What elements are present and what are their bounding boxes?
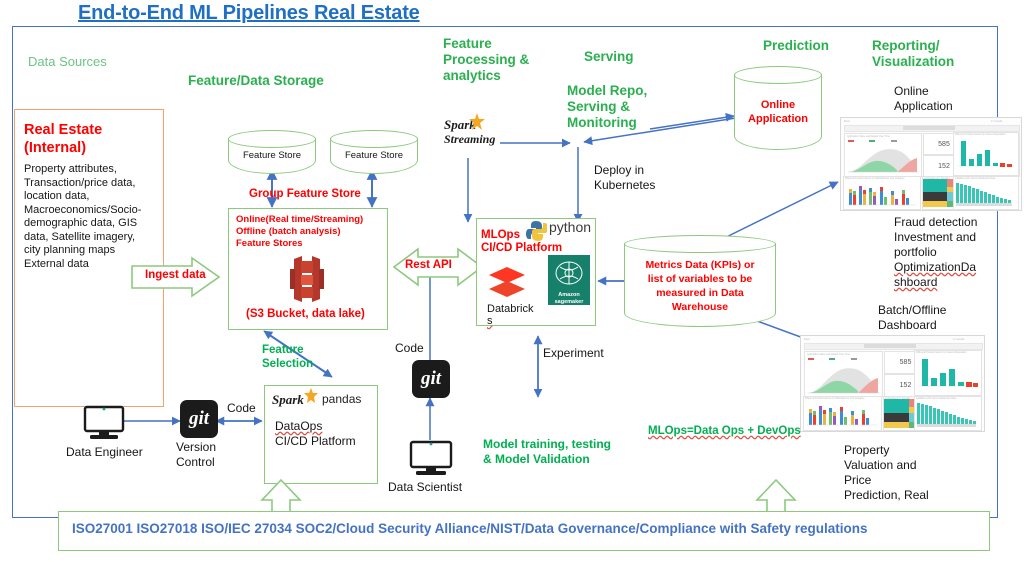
section-label-feature-processing: Feature Processing & analytics xyxy=(443,36,553,84)
dataops-text: DataOps CI/CD Platform xyxy=(275,419,375,449)
section-label-reporting: Reporting/ Visualization xyxy=(872,38,992,70)
page-title: End-to-End ML Pipelines Real Estate xyxy=(78,2,498,25)
kpi2-card-4: 164 xyxy=(928,374,971,397)
metrics-warehouse-text: Metrics Data (KPIs) or list of variables… xyxy=(645,258,754,314)
data-scientist-label: Data Scientist xyxy=(388,480,462,495)
diagram-canvas: End-to-End ML Pipelines Real Estate xyxy=(0,0,1024,562)
spark-star-icon-dataops xyxy=(303,388,319,404)
feature-processing-line2: Processing & xyxy=(443,52,553,68)
metrics-warehouse-cylinder: Metrics Data (KPIs) or list of variables… xyxy=(624,235,776,327)
kpi2-card-2: 277 xyxy=(928,351,971,374)
group-feature-store-label: Group Feature Store xyxy=(249,188,361,201)
feature-processing-line1: Feature xyxy=(443,36,553,52)
code-label-mid: Code xyxy=(395,341,424,356)
rest-api-label: Rest API xyxy=(405,259,452,272)
compliance-banner-text: ISO27001 ISO27018 ISO/IEC 27034 SOC2/Clo… xyxy=(72,521,982,536)
source-heading-line2: (Internal) xyxy=(24,139,156,157)
section-label-prediction: Prediction xyxy=(763,38,829,54)
reporting-online-app-label: Online Application xyxy=(894,84,994,114)
sagemaker-label: Amazon sagemaker xyxy=(548,292,590,305)
aws-s3-icon xyxy=(282,255,332,303)
pandas-label: pandas xyxy=(322,393,361,407)
dashboard1-caption: Fraud detection Investment and portfolio… xyxy=(894,215,1004,290)
feature-processing-line3: analytics xyxy=(443,68,553,84)
version-control-label: Version Control xyxy=(176,440,246,470)
feature-store-right-label: Feature Store xyxy=(345,149,403,163)
online-application-cylinder: Online Application xyxy=(734,66,822,150)
data-engineer-label: Data Engineer xyxy=(66,445,143,460)
model-training-note: Model training, testing & Model Validati… xyxy=(483,437,653,467)
online-application-text: Online Application xyxy=(748,98,808,126)
batch-offline-label: Batch/Offline Dashboard xyxy=(878,303,988,333)
kpi2-value-2: 277 xyxy=(944,359,956,366)
storage-line2: Offline (batch analysis) xyxy=(236,226,388,238)
dashboard-online-charts xyxy=(840,117,1020,209)
git-icon-middle: git xyxy=(412,360,450,398)
reporting-line2: Visualization xyxy=(872,54,992,70)
dashboard-thumbnail-batch[interactable]: filters 17 records Application Value and… xyxy=(800,335,985,432)
code-label-left: Code xyxy=(227,401,256,416)
storage-box-text: Online(Real time/Streaming) Offline (bat… xyxy=(236,214,388,250)
git-icon-version-control: git xyxy=(180,400,218,438)
mlops-equation-note: MLOps=Data Ops + DevOps xyxy=(648,424,801,438)
source-heading-line1: Real Estate xyxy=(24,121,156,139)
feature-store-cylinder-left: Feature Store xyxy=(228,130,316,174)
data-engineer-monitor-icon xyxy=(82,405,126,441)
amazon-sagemaker-icon xyxy=(548,255,590,297)
feature-store-cylinder-right: Feature Store xyxy=(330,130,418,174)
kpi2-value-1: 585 xyxy=(900,359,912,366)
streaming-word: Streaming xyxy=(444,132,506,146)
mlops-title: MLOps CI/CD Platform xyxy=(481,229,571,255)
spark-logo-dataops: Spark xyxy=(272,392,304,408)
kpi2-value-4: 164 xyxy=(944,382,956,389)
databricks-label: Databrick s xyxy=(487,303,543,327)
section-label-feature-storage: Feature/Data Storage xyxy=(188,73,324,89)
feature-store-left-label: Feature Store xyxy=(243,149,301,163)
feature-selection-label: Feature Selection xyxy=(262,343,342,371)
section-label-serving: Serving xyxy=(584,49,634,65)
spark-star-icon xyxy=(468,113,486,131)
source-heading: Real Estate (Internal) xyxy=(24,121,156,157)
kpi2-value-3: 152 xyxy=(900,382,912,389)
dashboard2-caption: Property Valuation and Price Prediction,… xyxy=(844,443,964,503)
reporting-line1: Reporting/ xyxy=(872,38,992,54)
experiment-label: Experiment xyxy=(543,346,604,361)
source-body: Property attributes, Transaction/price d… xyxy=(24,163,156,271)
kpi2-card-1: 585 xyxy=(884,351,927,374)
storage-line3: Feature Stores xyxy=(236,238,388,250)
s3-caption: (S3 Bucket, data lake) xyxy=(246,308,365,321)
data-scientist-monitor-icon xyxy=(408,440,454,478)
deploy-kubernetes-label: Deploy in Kubernetes xyxy=(594,163,684,193)
databricks-icon xyxy=(487,265,527,301)
kpi2-card-3: 152 xyxy=(884,374,927,397)
storage-line1: Online(Real time/Streaming) xyxy=(236,214,388,226)
ingest-data-label: Ingest data xyxy=(145,269,206,282)
section-label-data-sources: Data Sources xyxy=(28,54,107,70)
serving-box-label: Model Repo, Serving & Monitoring xyxy=(567,83,677,131)
